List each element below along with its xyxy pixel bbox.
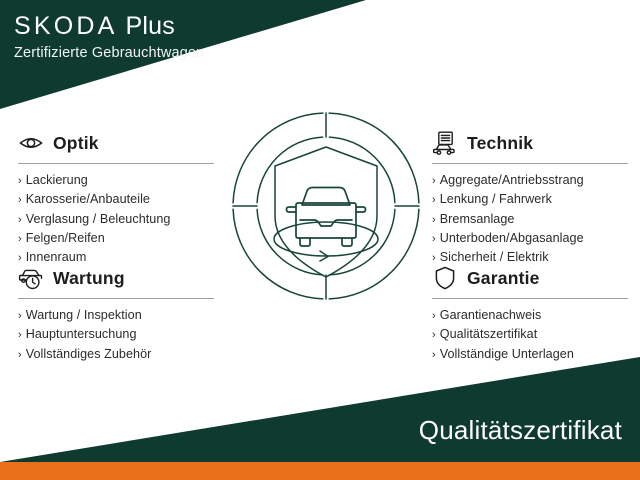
list-item-label: Lackierung: [26, 171, 88, 190]
list-item: ›Hauptuntersuchung: [18, 325, 218, 344]
list-item: ›Qualitätszertifikat: [432, 325, 632, 344]
footer-title: Qualitätszertifikat: [419, 415, 622, 446]
list-item: ›Unterboden/Abgasanlage: [432, 229, 632, 248]
chevron-right-icon: ›: [18, 215, 22, 226]
section-divider: [432, 298, 628, 299]
section-garantie: Garantie ›Garantienachweis ›Qualitätszer…: [432, 263, 632, 364]
list-item: ›Felgen/Reifen: [18, 229, 218, 248]
section-divider: [432, 163, 628, 164]
list-item-label: Qualitätszertifikat: [440, 325, 538, 344]
brand-tagline: Zertifizierte Gebrauchtwagen: [14, 46, 204, 61]
list-item-label: Felgen/Reifen: [26, 229, 105, 248]
list-item: ›Garantienachweis: [432, 306, 632, 325]
section-technik-list: ›Aggregate/Antriebsstrang ›Lenkung / Fah…: [432, 171, 632, 267]
brand-line: SKODA Plus: [14, 14, 204, 39]
list-item-label: Bremsanlage: [440, 210, 515, 229]
shield-car-rotation-emblem: [228, 108, 424, 304]
list-item: ›Karosserie/Anbauteile: [18, 190, 218, 209]
section-garantie-title: Garantie: [467, 268, 540, 289]
section-wartung-list: ›Wartung / Inspektion ›Hauptuntersuchung…: [18, 306, 218, 364]
section-wartung-header: Wartung: [18, 263, 218, 293]
section-wartung: Wartung ›Wartung / Inspektion ›Hauptunte…: [18, 263, 218, 364]
list-item: ›Aggregate/Antriebsstrang: [432, 171, 632, 190]
list-item: ›Lenkung / Fahrwerk: [432, 190, 632, 209]
section-divider: [18, 163, 214, 164]
shield-icon: [432, 265, 458, 291]
list-item-label: Aggregate/Antriebsstrang: [440, 171, 584, 190]
list-item-label: Vollständige Unterlagen: [440, 345, 574, 364]
brand-name: SKODA: [14, 14, 118, 39]
list-item: ›Lackierung: [18, 171, 218, 190]
list-item-label: Hauptuntersuchung: [26, 325, 137, 344]
footer-banner: [0, 357, 640, 462]
footer-accent-bar: [0, 462, 640, 480]
chevron-right-icon: ›: [18, 234, 22, 245]
list-item: ›Verglasung / Beleuchtung: [18, 210, 218, 229]
section-technik-header: Technik: [432, 128, 632, 158]
chevron-right-icon: ›: [18, 176, 22, 187]
list-item-label: Unterboden/Abgasanlage: [440, 229, 584, 248]
certificate-infographic: SKODA Plus Zertifizierte Gebrauchtwagen: [0, 0, 640, 480]
list-item: ›Vollständige Unterlagen: [432, 345, 632, 364]
brand-lockup: SKODA Plus Zertifizierte Gebrauchtwagen: [14, 14, 204, 61]
eye-icon: [18, 130, 44, 156]
section-technik-title: Technik: [467, 133, 533, 154]
section-optik-list: ›Lackierung ›Karosserie/Anbauteile ›Verg…: [18, 171, 218, 267]
chevron-right-icon: ›: [18, 330, 22, 341]
list-item-label: Vollständiges Zubehör: [26, 345, 152, 364]
section-technik: Technik ›Aggregate/Antriebsstrang ›Lenku…: [432, 128, 632, 267]
section-garantie-header: Garantie: [432, 263, 632, 293]
list-item-label: Lenkung / Fahrwerk: [440, 190, 552, 209]
chevron-right-icon: ›: [432, 195, 436, 206]
list-item-label: Karosserie/Anbauteile: [26, 190, 150, 209]
chevron-right-icon: ›: [18, 350, 22, 361]
chevron-right-icon: ›: [18, 311, 22, 322]
chevron-right-icon: ›: [432, 234, 436, 245]
chevron-right-icon: ›: [432, 350, 436, 361]
list-item-label: Wartung / Inspektion: [26, 306, 142, 325]
section-optik: Optik ›Lackierung ›Karosserie/Anbauteile…: [18, 128, 218, 267]
section-divider: [18, 298, 214, 299]
chevron-right-icon: ›: [432, 215, 436, 226]
chevron-right-icon: ›: [18, 195, 22, 206]
section-wartung-title: Wartung: [53, 268, 125, 289]
list-item: ›Vollständiges Zubehör: [18, 345, 218, 364]
chevron-right-icon: ›: [432, 176, 436, 187]
chevron-right-icon: ›: [432, 330, 436, 341]
list-item-label: Verglasung / Beleuchtung: [26, 210, 171, 229]
car-document-icon: [432, 130, 458, 156]
list-item: ›Bremsanlage: [432, 210, 632, 229]
brand-suffix: Plus: [126, 14, 175, 39]
section-optik-header: Optik: [18, 128, 218, 158]
car-service-clock-icon: [18, 265, 44, 291]
section-garantie-list: ›Garantienachweis ›Qualitätszertifikat ›…: [432, 306, 632, 364]
list-item-label: Garantienachweis: [440, 306, 542, 325]
list-item: ›Wartung / Inspektion: [18, 306, 218, 325]
section-optik-title: Optik: [53, 133, 99, 154]
chevron-right-icon: ›: [432, 311, 436, 322]
